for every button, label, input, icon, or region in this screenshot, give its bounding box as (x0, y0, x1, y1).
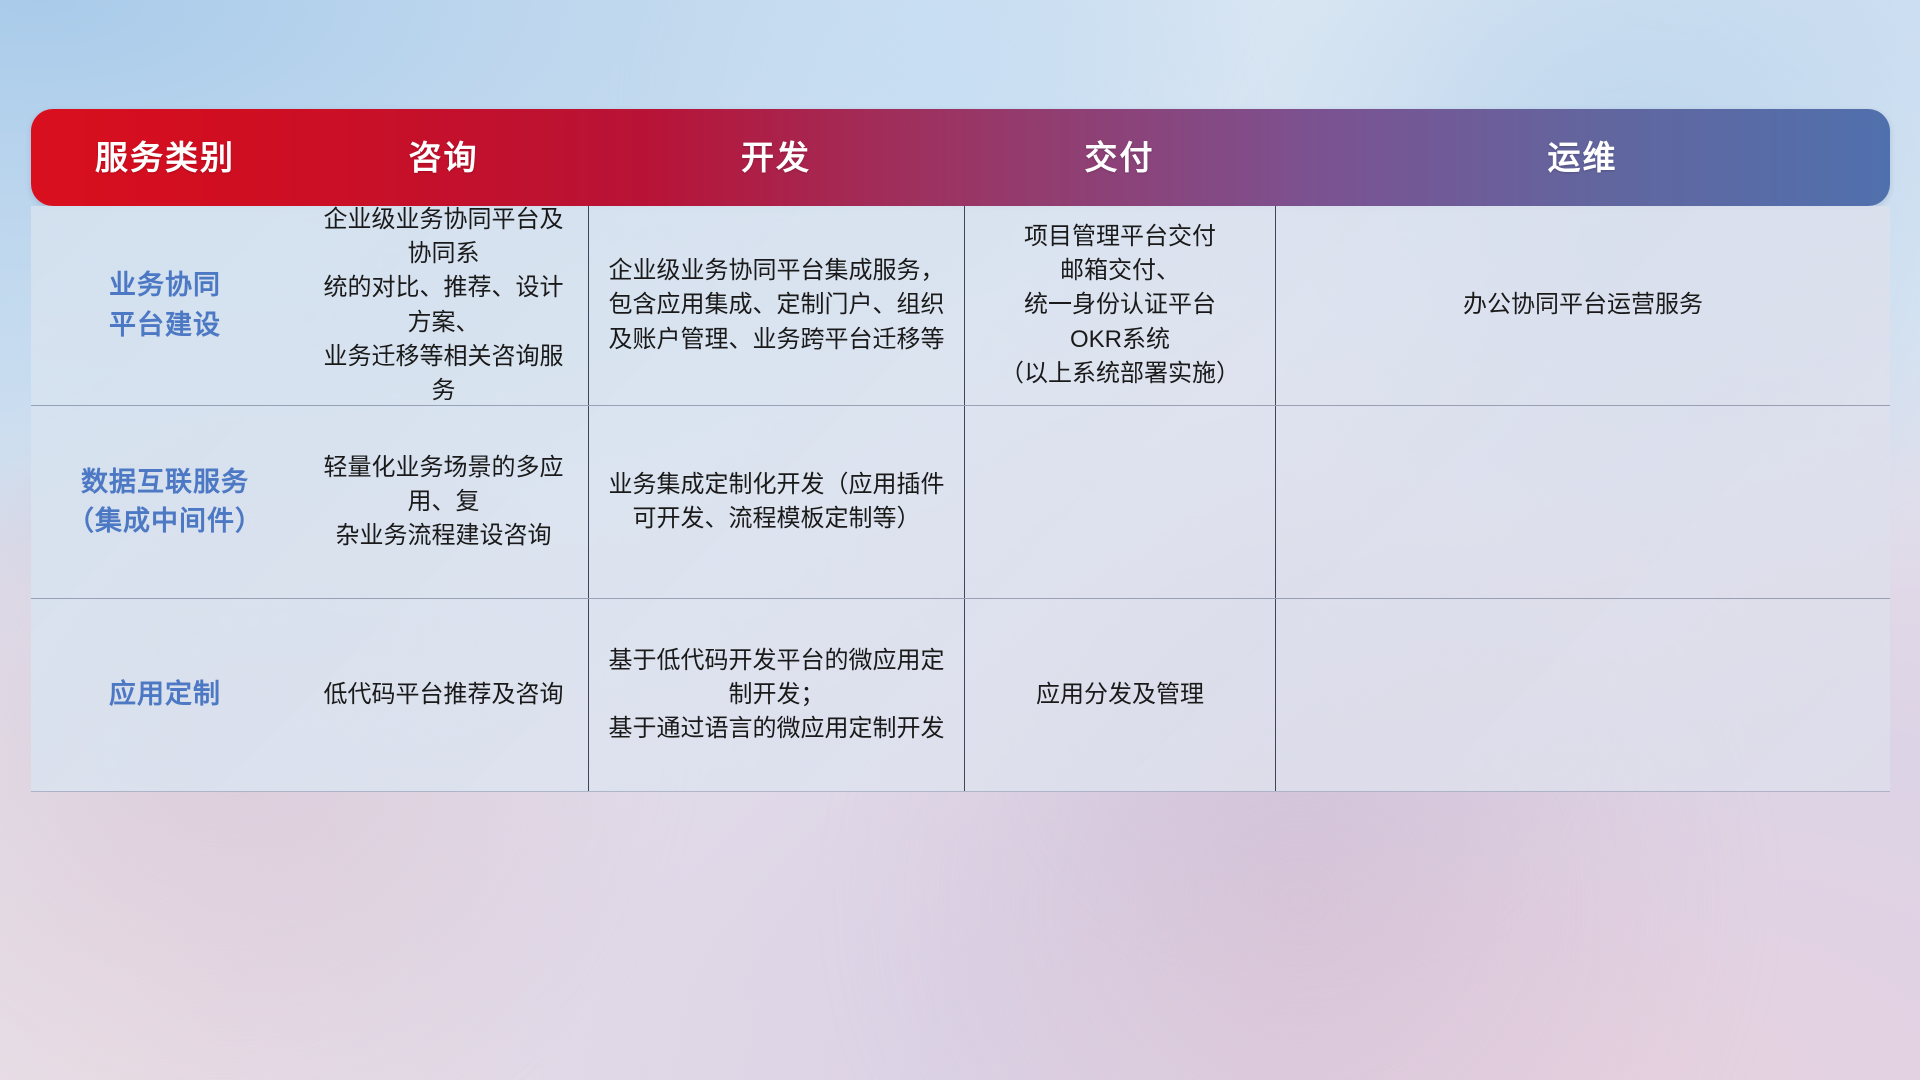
row-category-label: 数据互联服务 （集成中间件） (31, 406, 299, 598)
column-header-delivery: 交付 (964, 141, 1275, 174)
cell-development: 企业级业务协同平台集成服务， 包含应用集成、定制门户、组织 及账户管理、业务跨平… (588, 206, 964, 405)
column-header-category: 服务类别 (31, 141, 299, 174)
cell-development: 业务集成定制化开发（应用插件 可开发、流程模板定制等） (588, 406, 964, 598)
row-category-label: 业务协同 平台建设 (31, 206, 299, 405)
cell-consulting: 轻量化业务场景的多应用、复 杂业务流程建设咨询 (299, 406, 588, 598)
cell-delivery (964, 406, 1275, 598)
cell-consulting: 低代码平台推荐及咨询 (299, 599, 588, 791)
row-category-label: 应用定制 (31, 599, 299, 791)
table-body: 业务协同 平台建设 企业级业务协同平台及协同系 统的对比、推荐、设计方案、 业务… (31, 206, 1890, 792)
cell-operations (1275, 599, 1890, 791)
column-header-consulting: 咨询 (299, 141, 588, 174)
table-header-row: 服务类别 咨询 开发 交付 运维 (31, 109, 1890, 206)
column-header-development: 开发 (588, 141, 964, 174)
column-header-operations: 运维 (1275, 141, 1890, 174)
table-row: 数据互联服务 （集成中间件） 轻量化业务场景的多应用、复 杂业务流程建设咨询 业… (31, 405, 1890, 598)
cell-delivery: 应用分发及管理 (964, 599, 1275, 791)
cell-development: 基于低代码开发平台的微应用定 制开发； 基于通过语言的微应用定制开发 (588, 599, 964, 791)
cell-delivery: 项目管理平台交付 邮箱交付、 统一身份认证平台 OKR系统 （以上系统部署实施） (964, 206, 1275, 405)
table-row: 应用定制 低代码平台推荐及咨询 基于低代码开发平台的微应用定 制开发； 基于通过… (31, 598, 1890, 791)
cell-consulting: 企业级业务协同平台及协同系 统的对比、推荐、设计方案、 业务迁移等相关咨询服务 (299, 206, 588, 405)
cell-operations (1275, 406, 1890, 598)
cell-operations: 办公协同平台运营服务 (1275, 206, 1890, 405)
service-matrix-table: 服务类别 咨询 开发 交付 运维 业务协同 平台建设 企业级业务协同平台及协同系… (31, 109, 1890, 792)
table-row: 业务协同 平台建设 企业级业务协同平台及协同系 统的对比、推荐、设计方案、 业务… (31, 206, 1890, 405)
